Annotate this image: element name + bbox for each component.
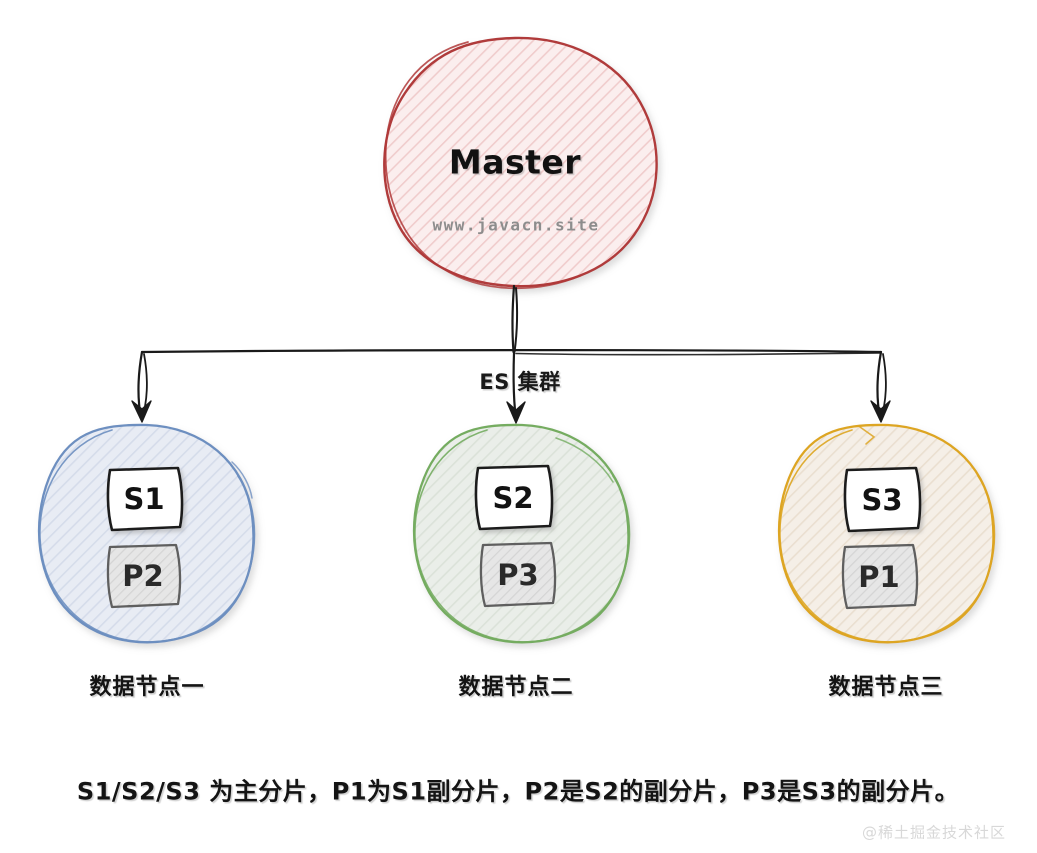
shard-label-s3: S3 <box>861 483 902 517</box>
connector-master-stem-sketch <box>515 288 518 352</box>
connector-horizontal-bar <box>142 350 881 352</box>
node-one-circle-fill <box>39 425 253 642</box>
connector-horizontal-bar-sketch <box>516 353 881 355</box>
node-three-circle-fill <box>779 425 993 642</box>
node-one-label: 数据节点一 <box>89 669 204 701</box>
connector-master-stem <box>512 286 514 352</box>
shard-label-s2: S2 <box>492 481 533 515</box>
arrow-head-node-three-icon <box>871 401 890 422</box>
arrow-head-node-two-icon <box>507 402 525 423</box>
arrow-head-node-one-icon <box>132 401 151 422</box>
diagram-canvas: Master www.javacn.site ES 集群 S1 P2 S2 P3… <box>0 0 1037 853</box>
cluster-connector-label: ES 集群 <box>479 366 560 396</box>
node-two-circle-fill <box>414 425 628 642</box>
master-node-title: Master <box>449 143 581 182</box>
cluster-diagram-svg <box>0 0 1037 853</box>
node-three-label: 数据节点三 <box>828 669 943 701</box>
data-node-three[interactable] <box>779 425 994 642</box>
master-node-url: www.javacn.site <box>433 216 600 235</box>
shard-label-p2: P2 <box>122 559 163 593</box>
watermark-text: @稀土掘金技术社区 <box>862 822 1006 843</box>
data-node-two[interactable] <box>414 425 629 642</box>
connector-lines <box>132 286 890 423</box>
shard-label-p3: P3 <box>497 558 538 592</box>
diagram-caption: S1/S2/S3 为主分片，P1为S1副分片，P2是S2的副分片，P3是S3的副… <box>77 772 959 807</box>
data-node-one[interactable] <box>39 425 254 642</box>
shard-label-s1: S1 <box>123 482 164 516</box>
node-two-label: 数据节点二 <box>458 669 573 701</box>
shard-label-p1: P1 <box>858 560 899 594</box>
